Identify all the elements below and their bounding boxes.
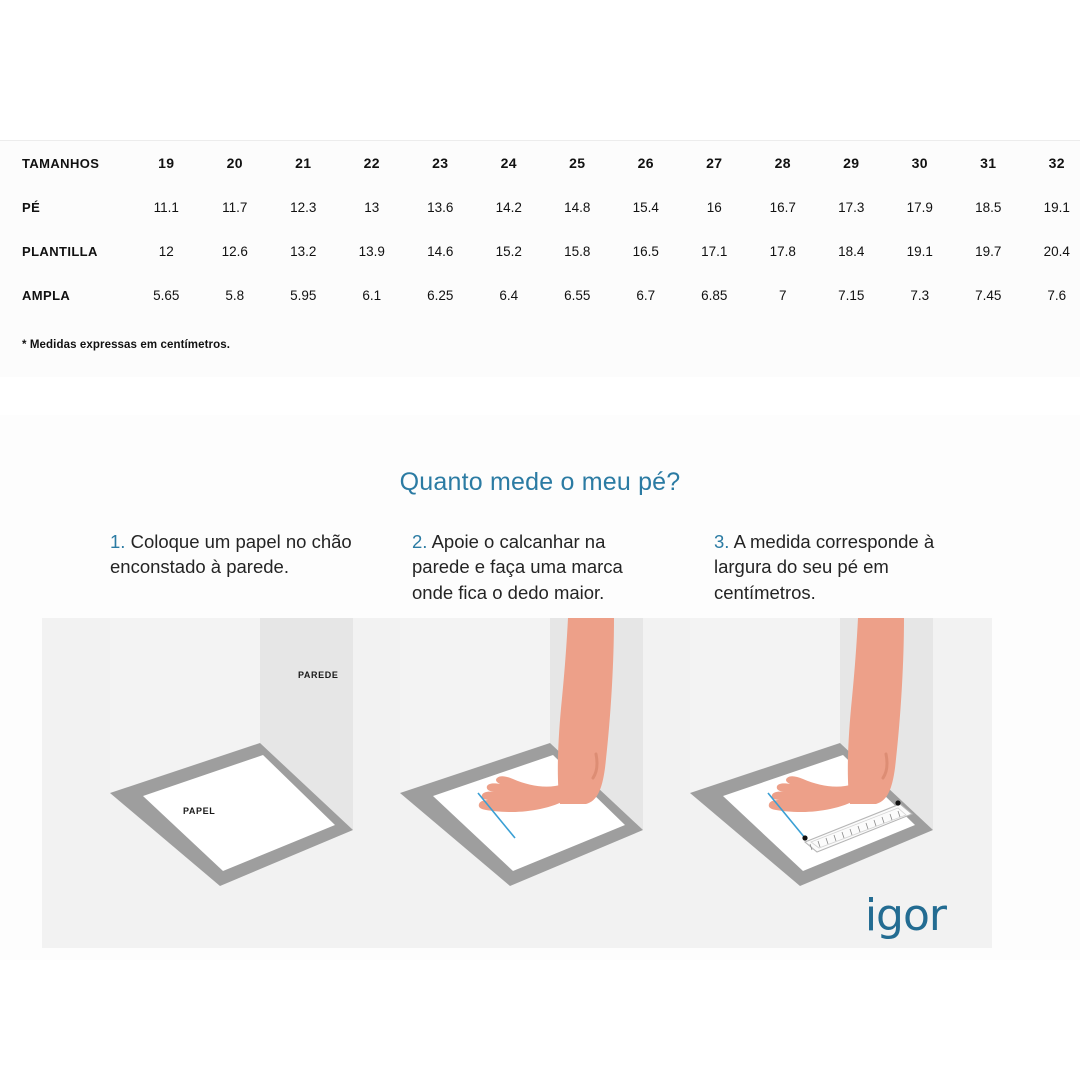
header-size-19: 19 [132,141,201,185]
cell-plantilla-22: 13.9 [338,229,407,273]
cell-pe-31: 18.5 [954,185,1023,229]
cell-ampla-23: 6.25 [406,273,475,317]
how-to-measure-section: Quanto mede o meu pé? 1. Coloque um pape… [0,415,1080,960]
cell-ampla-24: 6.4 [475,273,544,317]
cell-ampla-32: 7.6 [1023,273,1080,317]
header-size-22: 22 [338,141,407,185]
illustration-step-2 [400,618,658,888]
table-row: PLANTILLA 12 12.6 13.2 13.9 14.6 15.2 15… [0,229,1080,273]
cell-ampla-30: 7.3 [886,273,955,317]
step-1: 1. Coloque um papel no chão enconstado à… [110,529,364,606]
step-2: 2. Apoie o calcanhar na parede e faça um… [412,529,666,606]
cell-pe-20: 11.7 [201,185,270,229]
header-label-tamanhos: TAMANHOS [0,141,132,185]
header-size-26: 26 [612,141,681,185]
cell-plantilla-19: 12 [132,229,201,273]
cell-plantilla-21: 13.2 [269,229,338,273]
measure-title: Quanto mede o meu pé? [0,468,1080,497]
size-chart-table: TAMANHOS 19 20 21 22 23 24 25 26 27 28 2… [0,141,1080,317]
cell-plantilla-25: 15.8 [543,229,612,273]
cell-plantilla-20: 12.6 [201,229,270,273]
measure-point-end [895,800,900,805]
row-label-pe: PÉ [0,185,132,229]
illustration-step-1: PAREDE PAPEL [110,618,368,888]
header-size-28: 28 [749,141,818,185]
cell-ampla-26: 6.7 [612,273,681,317]
cell-plantilla-28: 17.8 [749,229,818,273]
header-size-31: 31 [954,141,1023,185]
cell-plantilla-23: 14.6 [406,229,475,273]
table-footnote: * Medidas expressas em centímetros. [22,339,230,351]
cell-plantilla-29: 18.4 [817,229,886,273]
cell-pe-19: 11.1 [132,185,201,229]
paper-label: PAPEL [183,806,215,816]
wall-label: PAREDE [298,670,338,680]
header-size-23: 23 [406,141,475,185]
illustration-panel: PAREDE PAPEL [42,618,992,948]
cell-ampla-21: 5.95 [269,273,338,317]
cell-pe-25: 14.8 [543,185,612,229]
cell-plantilla-32: 20.4 [1023,229,1080,273]
header-size-27: 27 [680,141,749,185]
cell-ampla-28: 7 [749,273,818,317]
cell-ampla-29: 7.15 [817,273,886,317]
cell-pe-30: 17.9 [886,185,955,229]
header-size-30: 30 [886,141,955,185]
header-size-21: 21 [269,141,338,185]
cell-plantilla-26: 16.5 [612,229,681,273]
step-1-number: 1. [110,531,125,552]
cell-ampla-27: 6.85 [680,273,749,317]
step-1-text: Coloque um papel no chão enconstado à pa… [110,531,352,578]
cell-pe-29: 17.3 [817,185,886,229]
cell-pe-23: 13.6 [406,185,475,229]
cell-plantilla-24: 15.2 [475,229,544,273]
row-label-ampla: AMPLA [0,273,132,317]
step-2-number: 2. [412,531,427,552]
cell-pe-22: 13 [338,185,407,229]
cell-ampla-31: 7.45 [954,273,1023,317]
cell-pe-24: 14.2 [475,185,544,229]
step-3: 3. A medida corresponde à largura do seu… [714,529,968,606]
table-row: PÉ 11.1 11.7 12.3 13 13.6 14.2 14.8 15.4… [0,185,1080,229]
header-size-25: 25 [543,141,612,185]
cell-ampla-19: 5.65 [132,273,201,317]
cell-pe-32: 19.1 [1023,185,1080,229]
size-chart-section: TAMANHOS 19 20 21 22 23 24 25 26 27 28 2… [0,140,1080,377]
cell-plantilla-27: 17.1 [680,229,749,273]
cell-plantilla-30: 19.1 [886,229,955,273]
header-size-32: 32 [1023,141,1080,185]
cell-pe-27: 16 [680,185,749,229]
cell-pe-28: 16.7 [749,185,818,229]
illustration-step-3 [690,618,948,888]
cell-ampla-22: 6.1 [338,273,407,317]
cell-plantilla-31: 19.7 [954,229,1023,273]
steps-row: 1. Coloque um papel no chão enconstado à… [110,510,970,624]
cell-ampla-20: 5.8 [201,273,270,317]
igor-logo: igor [865,894,946,938]
step-3-text: A medida corresponde à largura do seu pé… [714,531,934,603]
cell-pe-26: 15.4 [612,185,681,229]
measure-point-start [802,835,807,840]
header-size-24: 24 [475,141,544,185]
cell-ampla-25: 6.55 [543,273,612,317]
table-row: AMPLA 5.65 5.8 5.95 6.1 6.25 6.4 6.55 6.… [0,273,1080,317]
row-label-plantilla: PLANTILLA [0,229,132,273]
step-3-number: 3. [714,531,729,552]
step-2-text: Apoie o calcanhar na parede e faça uma m… [412,531,623,603]
header-size-29: 29 [817,141,886,185]
header-size-20: 20 [201,141,270,185]
table-header-row: TAMANHOS 19 20 21 22 23 24 25 26 27 28 2… [0,141,1080,185]
cell-pe-21: 12.3 [269,185,338,229]
